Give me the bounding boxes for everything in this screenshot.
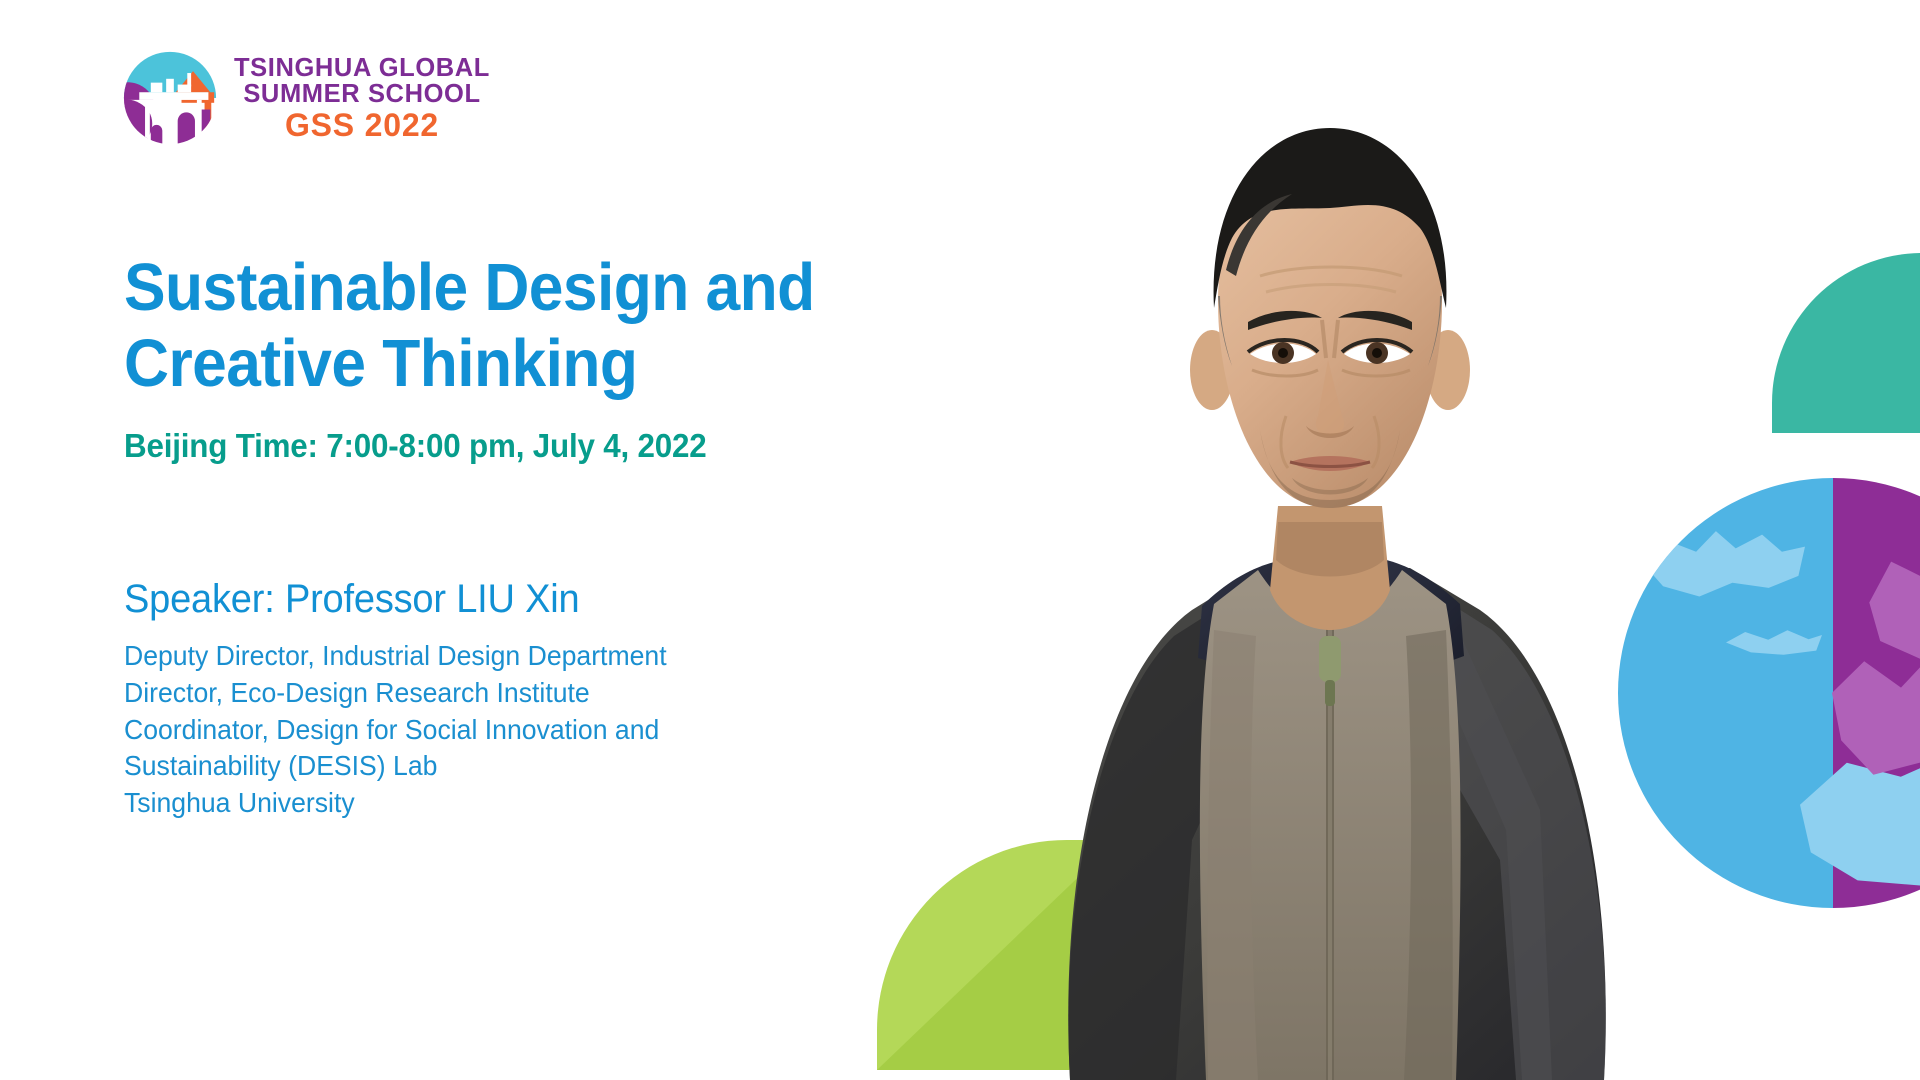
speaker-role-line: Deputy Director, Industrial Design Depar… xyxy=(124,638,922,675)
speaker-roles: Deputy Director, Industrial Design Depar… xyxy=(124,638,922,821)
speaker-role-line: Sustainability (DESIS) Lab xyxy=(124,748,922,785)
tsinghua-gate-circle-logo-icon xyxy=(122,50,218,146)
speaker-role-line: Coordinator, Design for Social Innovatio… xyxy=(124,712,922,749)
speaker-role-line: Tsinghua University xyxy=(124,785,922,822)
speaker-name: Speaker: Professor LIU Xin xyxy=(124,577,922,622)
logo-line-1: TSINGHUA GLOBAL xyxy=(234,55,490,81)
session-title: Sustainable Design and Creative Thinking xyxy=(124,250,905,401)
session-time: Beijing Time: 7:00-8:00 pm, July 4, 2022 xyxy=(124,427,922,465)
logo-line-3: GSS 2022 xyxy=(285,109,439,142)
logo-line-2: SUMMER SCHOOL xyxy=(243,81,480,107)
teal-leaf-shape xyxy=(1772,253,1920,433)
speaker-portrait-photo xyxy=(940,70,1720,1080)
speaker-role-line: Director, Eco-Design Research Institute xyxy=(124,675,922,712)
gss-logo: TSINGHUA GLOBAL SUMMER SCHOOL GSS 2022 xyxy=(122,50,490,146)
poster-canvas: TSINGHUA GLOBAL SUMMER SCHOOL GSS 2022 S… xyxy=(0,0,1920,1080)
gss-logo-wordmark: TSINGHUA GLOBAL SUMMER SCHOOL GSS 2022 xyxy=(234,55,490,142)
session-info-block: Sustainable Design and Creative Thinking… xyxy=(124,250,964,822)
